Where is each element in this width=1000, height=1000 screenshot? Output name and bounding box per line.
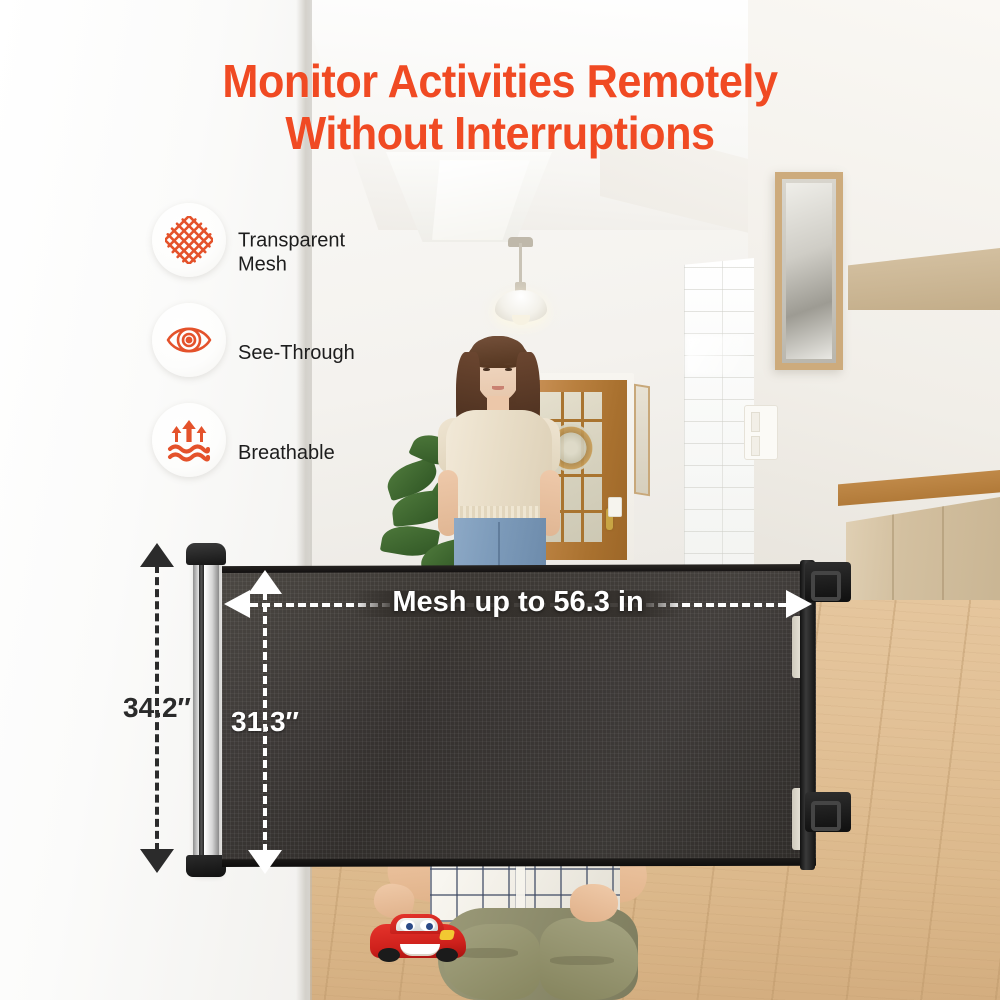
- framed-artwork: [775, 172, 843, 370]
- car-lightning-decal: [439, 930, 455, 940]
- arrow-right-icon: [786, 590, 812, 618]
- eye-icon: [152, 303, 226, 377]
- feature-label: Transparent Mesh: [238, 229, 345, 278]
- width-dimension-callout: Mesh up to 56.3 in: [224, 589, 812, 619]
- width-dimension-label: Mesh up to 56.3 in: [380, 586, 655, 619]
- eye: [505, 368, 512, 371]
- gate-post-bottom-cap: [186, 855, 226, 877]
- car-wheel: [378, 948, 400, 962]
- switch-rocker: [751, 412, 760, 432]
- hand-right: [570, 884, 618, 922]
- mesh-height-dimension-callout: 31.3″: [248, 570, 282, 874]
- mouth: [492, 386, 504, 390]
- tile-highlight: [686, 335, 748, 375]
- wall-bracket-bottom: [805, 792, 851, 832]
- arrow-up-icon: [140, 543, 174, 567]
- wall-outlet: [608, 497, 622, 517]
- pendant-rod: [519, 243, 522, 285]
- feature-item-see-through: See-Through: [152, 303, 392, 403]
- gate-height-dimension-callout: 34.2″: [140, 543, 174, 873]
- eyebrow: [504, 363, 513, 365]
- arrow-left-icon: [224, 590, 250, 618]
- arrow-down-icon: [248, 850, 282, 874]
- gate-height-label: 34.2″: [121, 689, 193, 727]
- fabric-fold: [550, 956, 614, 965]
- car-wheel: [436, 948, 458, 962]
- mesh-crosshatch-icon: [152, 203, 226, 277]
- gate-post-top-cap: [186, 543, 226, 565]
- feature-item-breathable: Breathable: [152, 403, 392, 503]
- car-smile: [400, 944, 440, 956]
- arrow-up-icon: [248, 570, 282, 594]
- gate-post-rod: [199, 560, 204, 868]
- switch-rocker: [751, 436, 760, 456]
- car-pupil: [406, 923, 413, 930]
- mesh-bottom-rail: [222, 858, 816, 867]
- mesh-height-label: 31.3″: [231, 706, 299, 738]
- feature-label: Breathable: [238, 441, 335, 465]
- headline-line-1: Monitor Activities Remotely: [222, 55, 777, 107]
- eyebrow: [482, 363, 491, 365]
- product-marketing-image: Monitor Activities Remotely Without Inte…: [0, 0, 1000, 1000]
- gate-housing-post: [193, 556, 219, 876]
- light-switch-plate: [744, 405, 778, 460]
- toy-race-car: [370, 914, 466, 962]
- arrow-down-icon: [140, 849, 174, 873]
- feature-item-transparent-mesh: Transparent Mesh: [152, 203, 392, 303]
- woman-figure: [424, 330, 574, 570]
- feature-label: See-Through: [238, 341, 355, 365]
- headline: Monitor Activities Remotely Without Inte…: [30, 56, 970, 159]
- car-pupil: [426, 923, 433, 930]
- eye: [483, 368, 490, 371]
- feature-list: Transparent Mesh See-Through: [152, 203, 392, 503]
- breathable-airflow-icon: [152, 403, 226, 477]
- headline-line-2: Without Interruptions: [30, 108, 970, 160]
- small-framed-art: [634, 384, 650, 497]
